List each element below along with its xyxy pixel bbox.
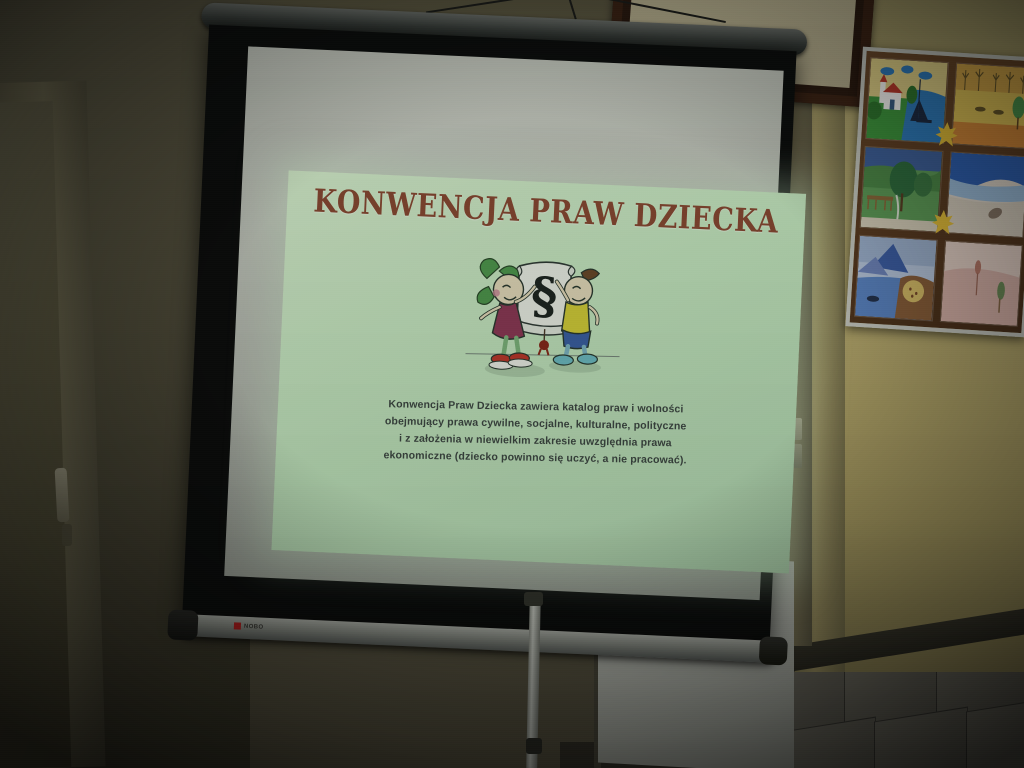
svg-text:§: § (530, 266, 559, 326)
tripod-clamp-upper (524, 592, 543, 606)
screen-black-border: KONWENCJA PRAW DZIECKA (182, 25, 797, 651)
screen-bar-end-cap-right (759, 636, 788, 665)
tripod-clamp-lower (526, 738, 542, 754)
brand-label: NOBO (244, 623, 264, 630)
presentation-slide: KONWENCJA PRAW DZIECKA (271, 170, 806, 573)
door-lock-icon (62, 524, 72, 546)
two-children-holding-law-scroll: § (448, 241, 634, 389)
artwork-bridge-landscape (860, 146, 943, 233)
artwork-autumn-field (951, 62, 1024, 149)
screen-brand-logo: NOBO (234, 622, 264, 630)
screen-white-surface: KONWENCJA PRAW DZIECKA (224, 46, 783, 600)
artwork-blue-sky-shore (945, 151, 1024, 238)
projected-slide-area: KONWENCJA PRAW DZIECKA (271, 170, 806, 573)
slide-title: KONWENCJA PRAW DZIECKA (313, 186, 779, 239)
children-artwork-board (845, 47, 1024, 338)
brand-mark-icon (234, 622, 241, 629)
slide-body-text: Konwencja Praw Dziecka zawiera katalog p… (384, 396, 688, 469)
pull-down-projector-screen[interactable]: KONWENCJA PRAW DZIECKA (167, 6, 816, 683)
artwork-mountain-lake (854, 235, 937, 322)
classroom-scene: ...możliwe ... (0, 0, 1024, 768)
screen-bar-end-cap-left (167, 609, 198, 640)
artwork-church-lake (865, 57, 948, 144)
artwork-pale-wash (939, 240, 1022, 327)
